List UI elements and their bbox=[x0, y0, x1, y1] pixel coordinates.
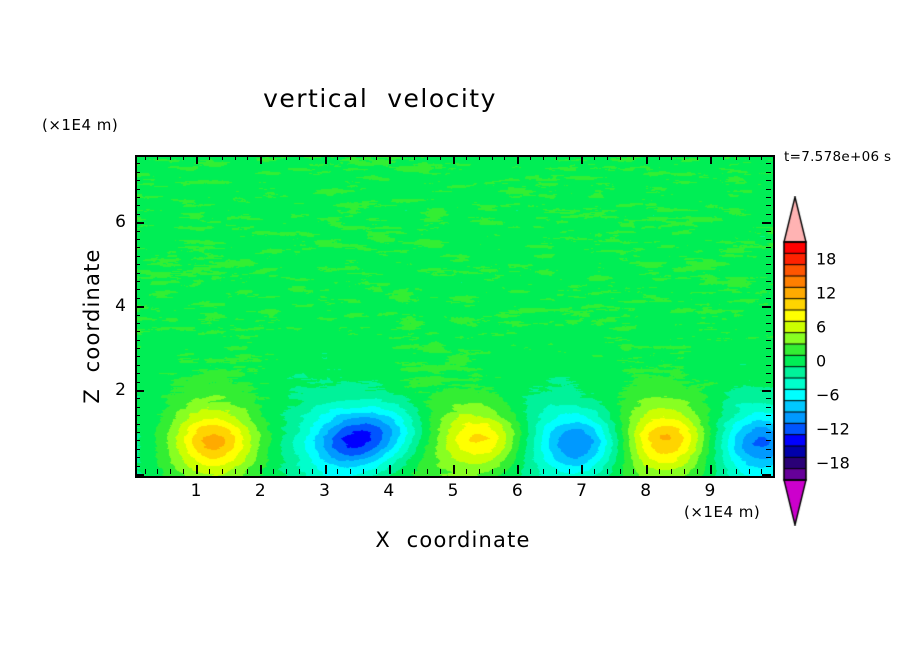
y-axis-title: Z coordinate bbox=[80, 196, 104, 456]
colorbar: 181260−6−12−18 bbox=[780, 196, 900, 526]
colorbar-tick-label-5: −12 bbox=[816, 420, 850, 439]
colorbar-tick-label-0: 18 bbox=[816, 250, 836, 269]
colorbar-tick-label-4: −6 bbox=[816, 386, 840, 405]
colorbar-gradient bbox=[780, 196, 810, 526]
y-tick-label-1: 4 bbox=[108, 296, 126, 316]
colorbar-tick-label-2: 6 bbox=[816, 318, 826, 337]
y-tick-label-0: 2 bbox=[108, 380, 126, 400]
x-axis-title: X coordinate bbox=[135, 528, 771, 552]
colorbar-tick-label-1: 12 bbox=[816, 284, 836, 303]
colorbar-tick-label-3: 0 bbox=[816, 352, 826, 371]
y-tick-label-2: 6 bbox=[108, 212, 126, 232]
y-axis-tick-labels: 246 bbox=[0, 0, 904, 654]
colorbar-tick-label-6: −18 bbox=[816, 454, 850, 473]
